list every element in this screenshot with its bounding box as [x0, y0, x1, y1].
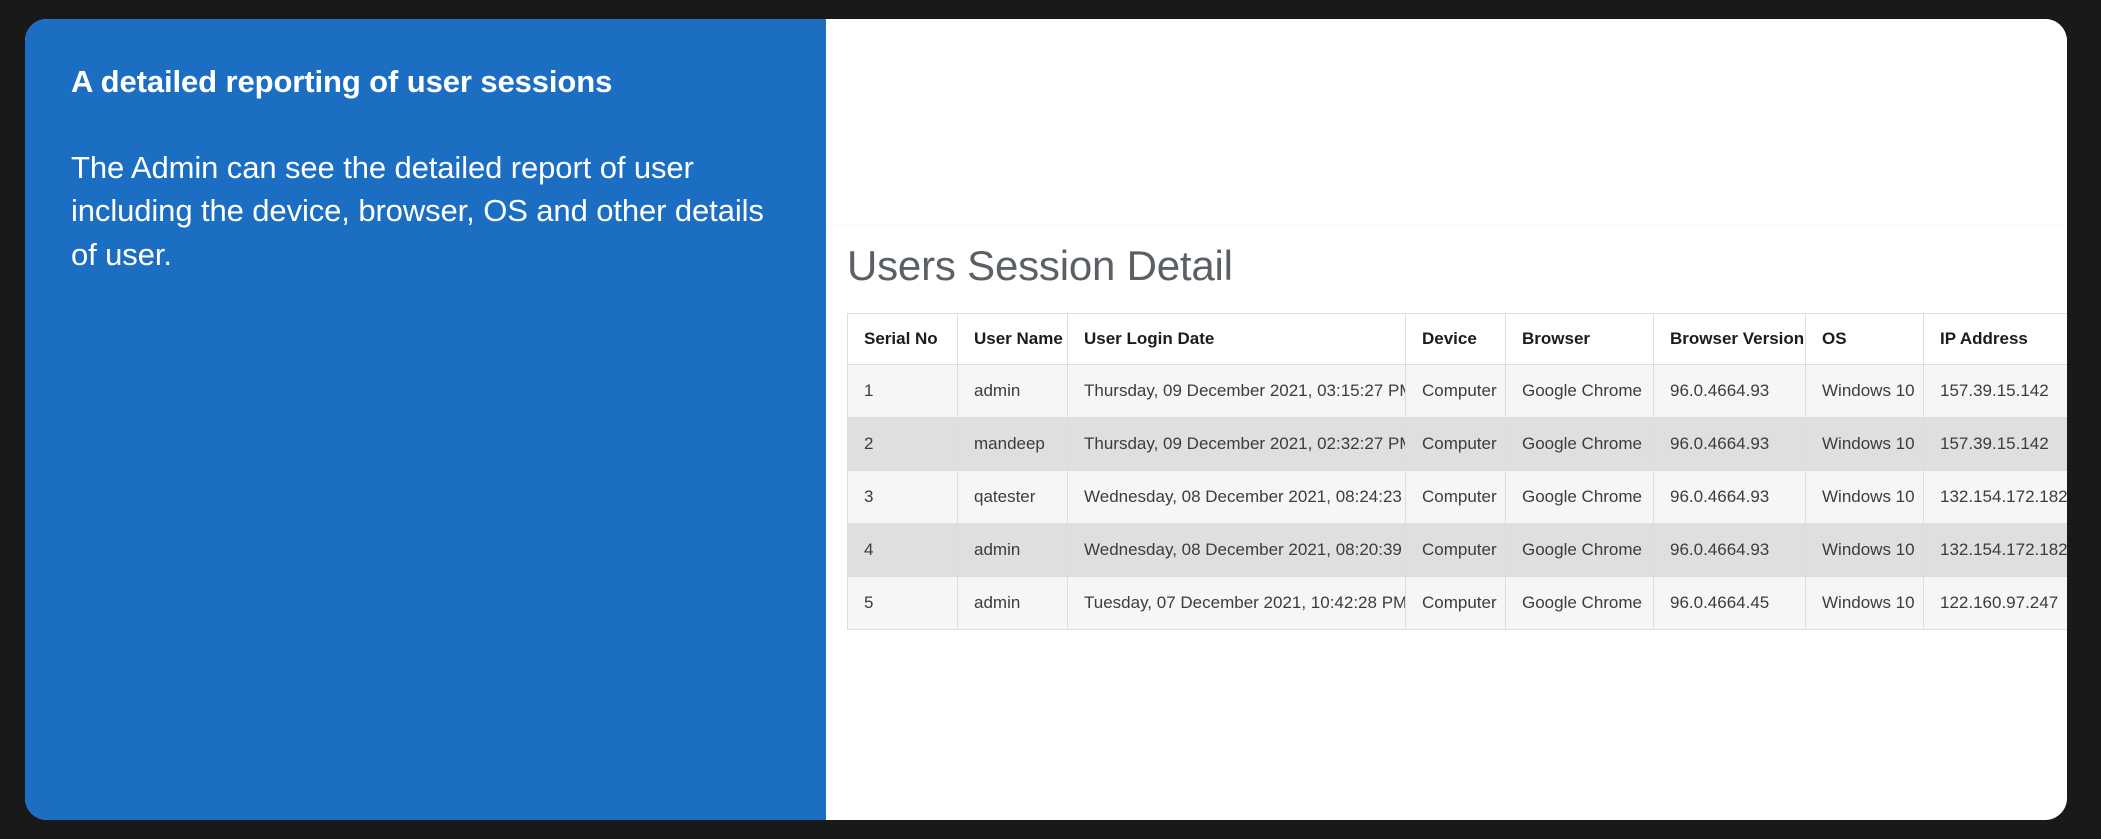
feature-card: A detailed reporting of user sessions Th…	[25, 19, 2067, 820]
cell-browser-version: 96.0.4664.93	[1654, 471, 1806, 524]
cell-browser: Google Chrome	[1506, 524, 1654, 577]
cell-user-login-date: Tuesday, 07 December 2021, 10:42:28 PM	[1068, 577, 1406, 630]
cell-browser-version: 96.0.4664.45	[1654, 577, 1806, 630]
users-session-table: Serial No User Name User Login Date Devi…	[847, 313, 2067, 630]
cell-ip-address: 132.154.172.182	[1924, 524, 2068, 577]
cell-device: Computer	[1406, 524, 1506, 577]
cell-user-name: mandeep	[958, 418, 1068, 471]
cell-os: Windows 10	[1806, 365, 1924, 418]
column-header-user-login-date[interactable]: User Login Date	[1068, 314, 1406, 365]
table-container: Serial No User Name User Login Date Devi…	[847, 313, 2067, 630]
column-header-browser-version[interactable]: Browser Version	[1654, 314, 1806, 365]
table-row: 4 admin Wednesday, 08 December 2021, 08:…	[848, 524, 2068, 577]
panel-title: A detailed reporting of user sessions	[71, 63, 780, 102]
cell-ip-address: 132.154.172.182	[1924, 471, 2068, 524]
column-header-device[interactable]: Device	[1406, 314, 1506, 365]
cell-user-login-date: Wednesday, 08 December 2021, 08:24:23 PM	[1068, 471, 1406, 524]
cell-ip-address: 157.39.15.142	[1924, 418, 2068, 471]
cell-serial-no: 1	[848, 365, 958, 418]
column-header-ip-address[interactable]: IP Address	[1924, 314, 2068, 365]
column-header-serial-no[interactable]: Serial No	[848, 314, 958, 365]
cell-serial-no: 3	[848, 471, 958, 524]
table-header-row: Serial No User Name User Login Date Devi…	[848, 314, 2068, 365]
page-title: Users Session Detail	[847, 245, 2067, 287]
cell-device: Computer	[1406, 577, 1506, 630]
table-row: 5 admin Tuesday, 07 December 2021, 10:42…	[848, 577, 2068, 630]
cell-device: Computer	[1406, 471, 1506, 524]
cell-os: Windows 10	[1806, 471, 1924, 524]
cell-serial-no: 4	[848, 524, 958, 577]
cell-serial-no: 2	[848, 418, 958, 471]
cell-os: Windows 10	[1806, 577, 1924, 630]
cell-browser-version: 96.0.4664.93	[1654, 418, 1806, 471]
content-divider	[826, 224, 2067, 225]
content-area: Users Session Detail	[826, 19, 2067, 820]
cell-browser: Google Chrome	[1506, 577, 1654, 630]
column-header-user-name[interactable]: User Name	[958, 314, 1068, 365]
cell-browser-version: 96.0.4664.93	[1654, 524, 1806, 577]
column-header-browser[interactable]: Browser	[1506, 314, 1654, 365]
cell-browser: Google Chrome	[1506, 365, 1654, 418]
cell-ip-address: 122.160.97.247	[1924, 577, 2068, 630]
cell-browser: Google Chrome	[1506, 471, 1654, 524]
description-panel: A detailed reporting of user sessions Th…	[25, 19, 826, 820]
cell-device: Computer	[1406, 418, 1506, 471]
cell-user-login-date: Wednesday, 08 December 2021, 08:20:39 PM	[1068, 524, 1406, 577]
panel-body-text: The Admin can see the detailed report of…	[71, 146, 780, 276]
cell-serial-no: 5	[848, 577, 958, 630]
cell-user-login-date: Thursday, 09 December 2021, 03:15:27 PM	[1068, 365, 1406, 418]
table-row: 2 mandeep Thursday, 09 December 2021, 02…	[848, 418, 2068, 471]
outer-frame: A detailed reporting of user sessions Th…	[0, 0, 2101, 839]
cell-os: Windows 10	[1806, 418, 1924, 471]
table-row: 3 qatester Wednesday, 08 December 2021, …	[848, 471, 2068, 524]
cell-device: Computer	[1406, 365, 1506, 418]
cell-browser: Google Chrome	[1506, 418, 1654, 471]
cell-os: Windows 10	[1806, 524, 1924, 577]
table-row: 1 admin Thursday, 09 December 2021, 03:1…	[848, 365, 2068, 418]
cell-ip-address: 157.39.15.142	[1924, 365, 2068, 418]
cell-user-login-date: Thursday, 09 December 2021, 02:32:27 PM	[1068, 418, 1406, 471]
column-header-os[interactable]: OS	[1806, 314, 1924, 365]
cell-user-name: admin	[958, 577, 1068, 630]
cell-user-name: qatester	[958, 471, 1068, 524]
cell-user-name: admin	[958, 365, 1068, 418]
cell-browser-version: 96.0.4664.93	[1654, 365, 1806, 418]
cell-user-name: admin	[958, 524, 1068, 577]
